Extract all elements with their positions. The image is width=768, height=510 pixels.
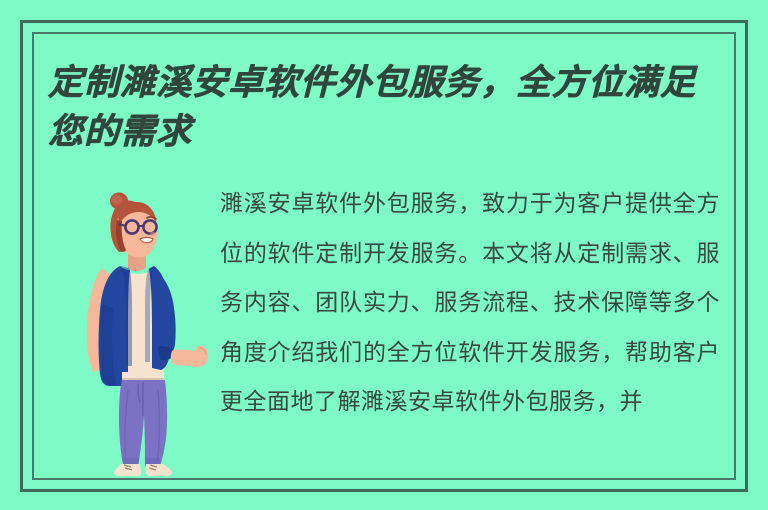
content-area: 濉溪安卓软件外包服务，致力于为客户提供全方位的软件定制开发服务。本文将从定制需求… [48, 176, 720, 476]
poster-canvas: 定制濉溪安卓软件外包服务，全方位满足您的需求 [0, 0, 768, 510]
page-title: 定制濉溪安卓软件外包服务，全方位满足您的需求 [48, 58, 728, 156]
body-paragraph: 濉溪安卓软件外包服务，致力于为客户提供全方位的软件定制开发服务。本文将从定制需求… [220, 180, 720, 476]
standing-person-illustration [60, 176, 210, 476]
